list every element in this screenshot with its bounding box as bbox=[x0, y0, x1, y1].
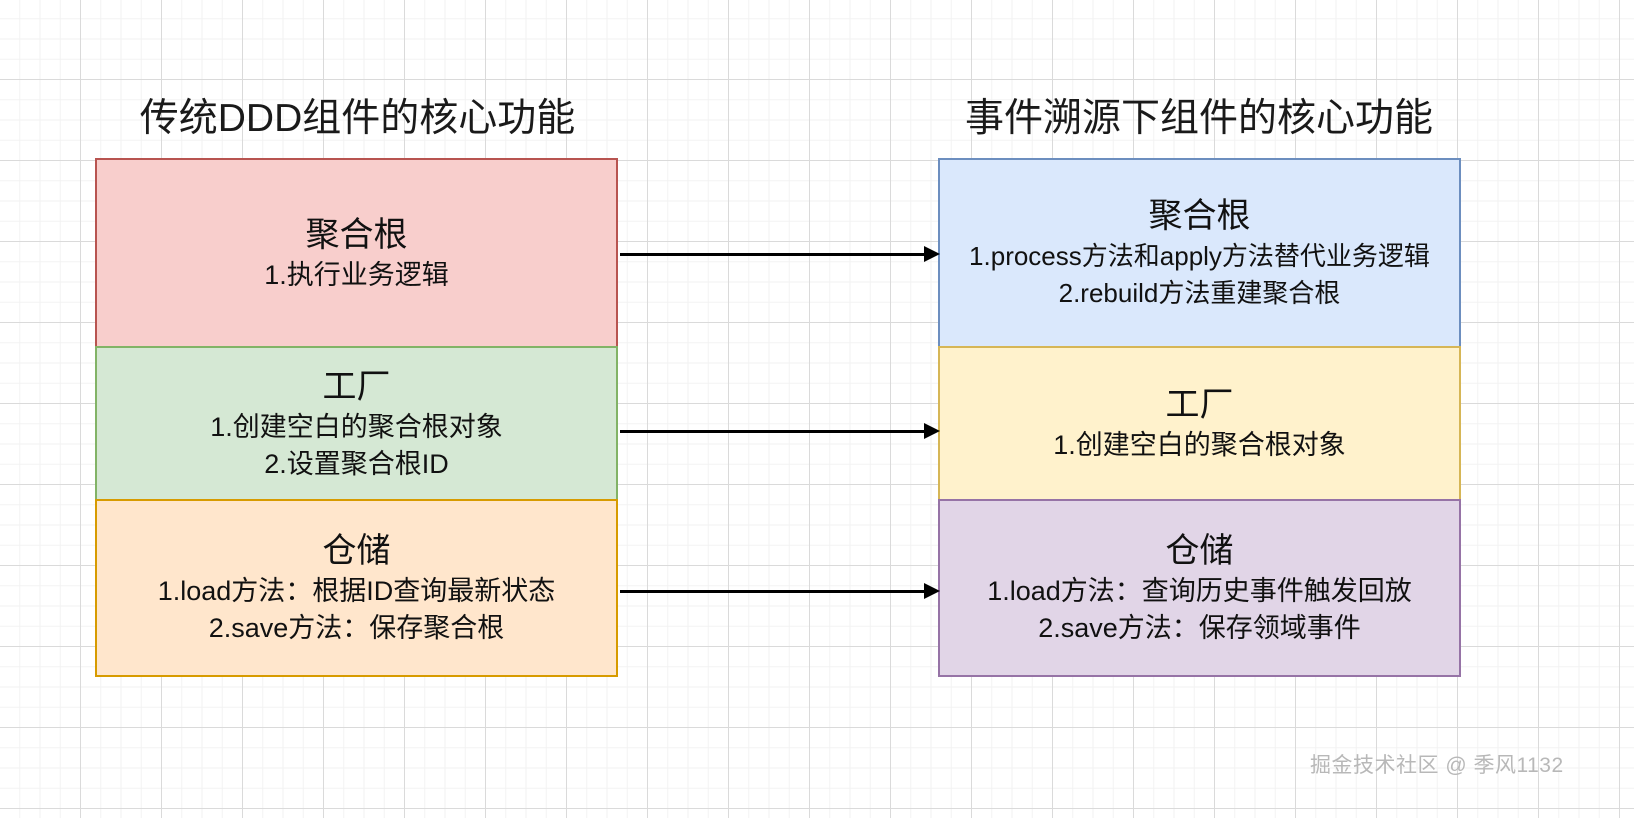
box-line: 1.创建空白的聚合根对象 bbox=[1053, 427, 1346, 464]
box-line: 2.save方法：保存领域事件 bbox=[1038, 610, 1361, 647]
box-eventsourcing-factory[interactable]: 工厂 1.创建空白的聚合根对象 bbox=[938, 346, 1461, 501]
arrow-shaft bbox=[620, 590, 926, 593]
box-title: 聚合根 bbox=[1149, 194, 1251, 238]
column-title-traditional-ddd: 传统DDD组件的核心功能 bbox=[95, 96, 620, 142]
box-eventsourcing-repository[interactable]: 仓储 1.load方法：查询历史事件触发回放 2.save方法：保存领域事件 bbox=[938, 499, 1461, 677]
arrow-right-icon-repository bbox=[620, 589, 940, 593]
box-traditional-aggregate-root[interactable]: 聚合根 1.执行业务逻辑 bbox=[95, 158, 618, 348]
box-title: 仓储 bbox=[1166, 529, 1234, 573]
box-line: 1.执行业务逻辑 bbox=[264, 257, 449, 294]
arrow-head bbox=[924, 423, 940, 439]
arrow-shaft bbox=[620, 430, 926, 433]
arrow-right-icon-factory bbox=[620, 429, 940, 433]
box-title: 工厂 bbox=[323, 365, 391, 409]
box-traditional-repository[interactable]: 仓储 1.load方法：根据ID查询最新状态 2.save方法：保存聚合根 bbox=[95, 499, 618, 677]
box-line: 2.设置聚合根ID bbox=[264, 446, 449, 483]
box-traditional-factory[interactable]: 工厂 1.创建空白的聚合根对象 2.设置聚合根ID bbox=[95, 346, 618, 501]
box-eventsourcing-aggregate-root[interactable]: 聚合根 1.process方法和apply方法替代业务逻辑 2.rebuild方… bbox=[938, 158, 1461, 348]
box-title: 聚合根 bbox=[306, 213, 408, 257]
column-title-event-sourcing: 事件溯源下组件的核心功能 bbox=[935, 96, 1463, 142]
arrow-right-icon-aggregate-root bbox=[620, 252, 940, 256]
column-traditional-ddd: 聚合根 1.执行业务逻辑 工厂 1.创建空白的聚合根对象 2.设置聚合根ID 仓… bbox=[95, 158, 618, 677]
column-event-sourcing: 聚合根 1.process方法和apply方法替代业务逻辑 2.rebuild方… bbox=[938, 158, 1461, 677]
box-line: 1.创建空白的聚合根对象 bbox=[210, 409, 503, 446]
box-line: 2.save方法：保存聚合根 bbox=[209, 610, 505, 647]
box-line: 1.process方法和apply方法替代业务逻辑 bbox=[969, 238, 1430, 275]
arrow-head bbox=[924, 246, 940, 262]
box-line: 1.load方法：根据ID查询最新状态 bbox=[158, 573, 556, 610]
arrow-head bbox=[924, 583, 940, 599]
diagram-canvas: 传统DDD组件的核心功能 事件溯源下组件的核心功能 聚合根 1.执行业务逻辑 工… bbox=[0, 0, 1634, 818]
box-line: 2.rebuild方法重建聚合根 bbox=[1059, 275, 1341, 312]
arrow-shaft bbox=[620, 253, 926, 256]
box-line: 1.load方法：查询历史事件触发回放 bbox=[987, 573, 1412, 610]
box-title: 工厂 bbox=[1166, 383, 1234, 427]
watermark: 掘金技术社区 @ 季风1132 bbox=[1310, 752, 1564, 780]
box-title: 仓储 bbox=[323, 529, 391, 573]
